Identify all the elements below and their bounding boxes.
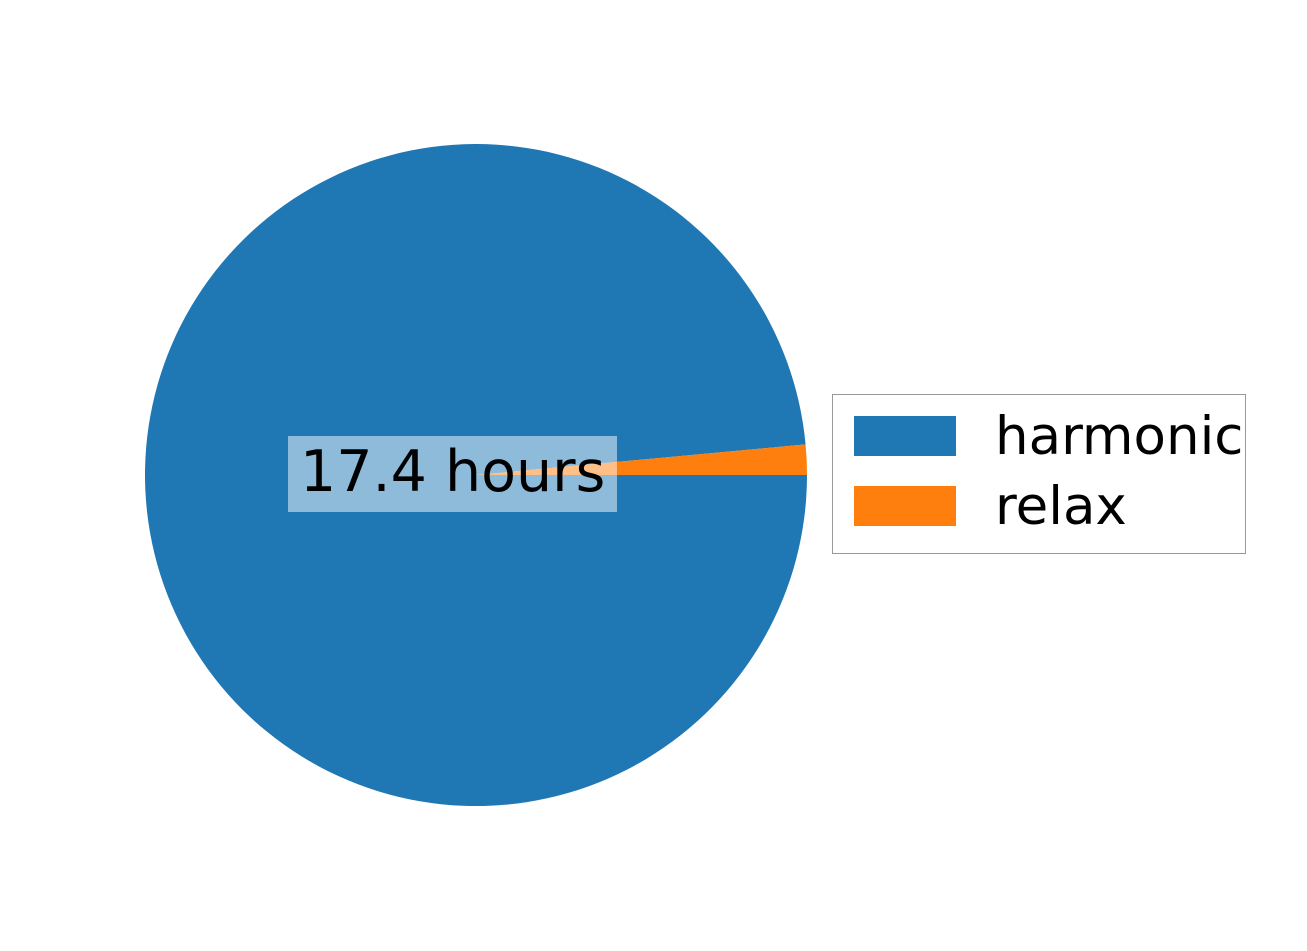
- pie-slice-label-harmonic: 17.4 hours: [288, 436, 617, 512]
- legend-item-relax[interactable]: relax: [833, 471, 1245, 541]
- legend-item-harmonic[interactable]: harmonic: [833, 401, 1245, 471]
- figure-canvas: 17.4 hours harmonic relax: [0, 0, 1307, 951]
- legend-label-relax: relax: [995, 480, 1127, 533]
- legend-swatch-relax: [854, 486, 956, 526]
- legend-label-harmonic: harmonic: [995, 410, 1243, 463]
- legend: harmonic relax: [832, 394, 1246, 554]
- legend-swatch-harmonic: [854, 416, 956, 456]
